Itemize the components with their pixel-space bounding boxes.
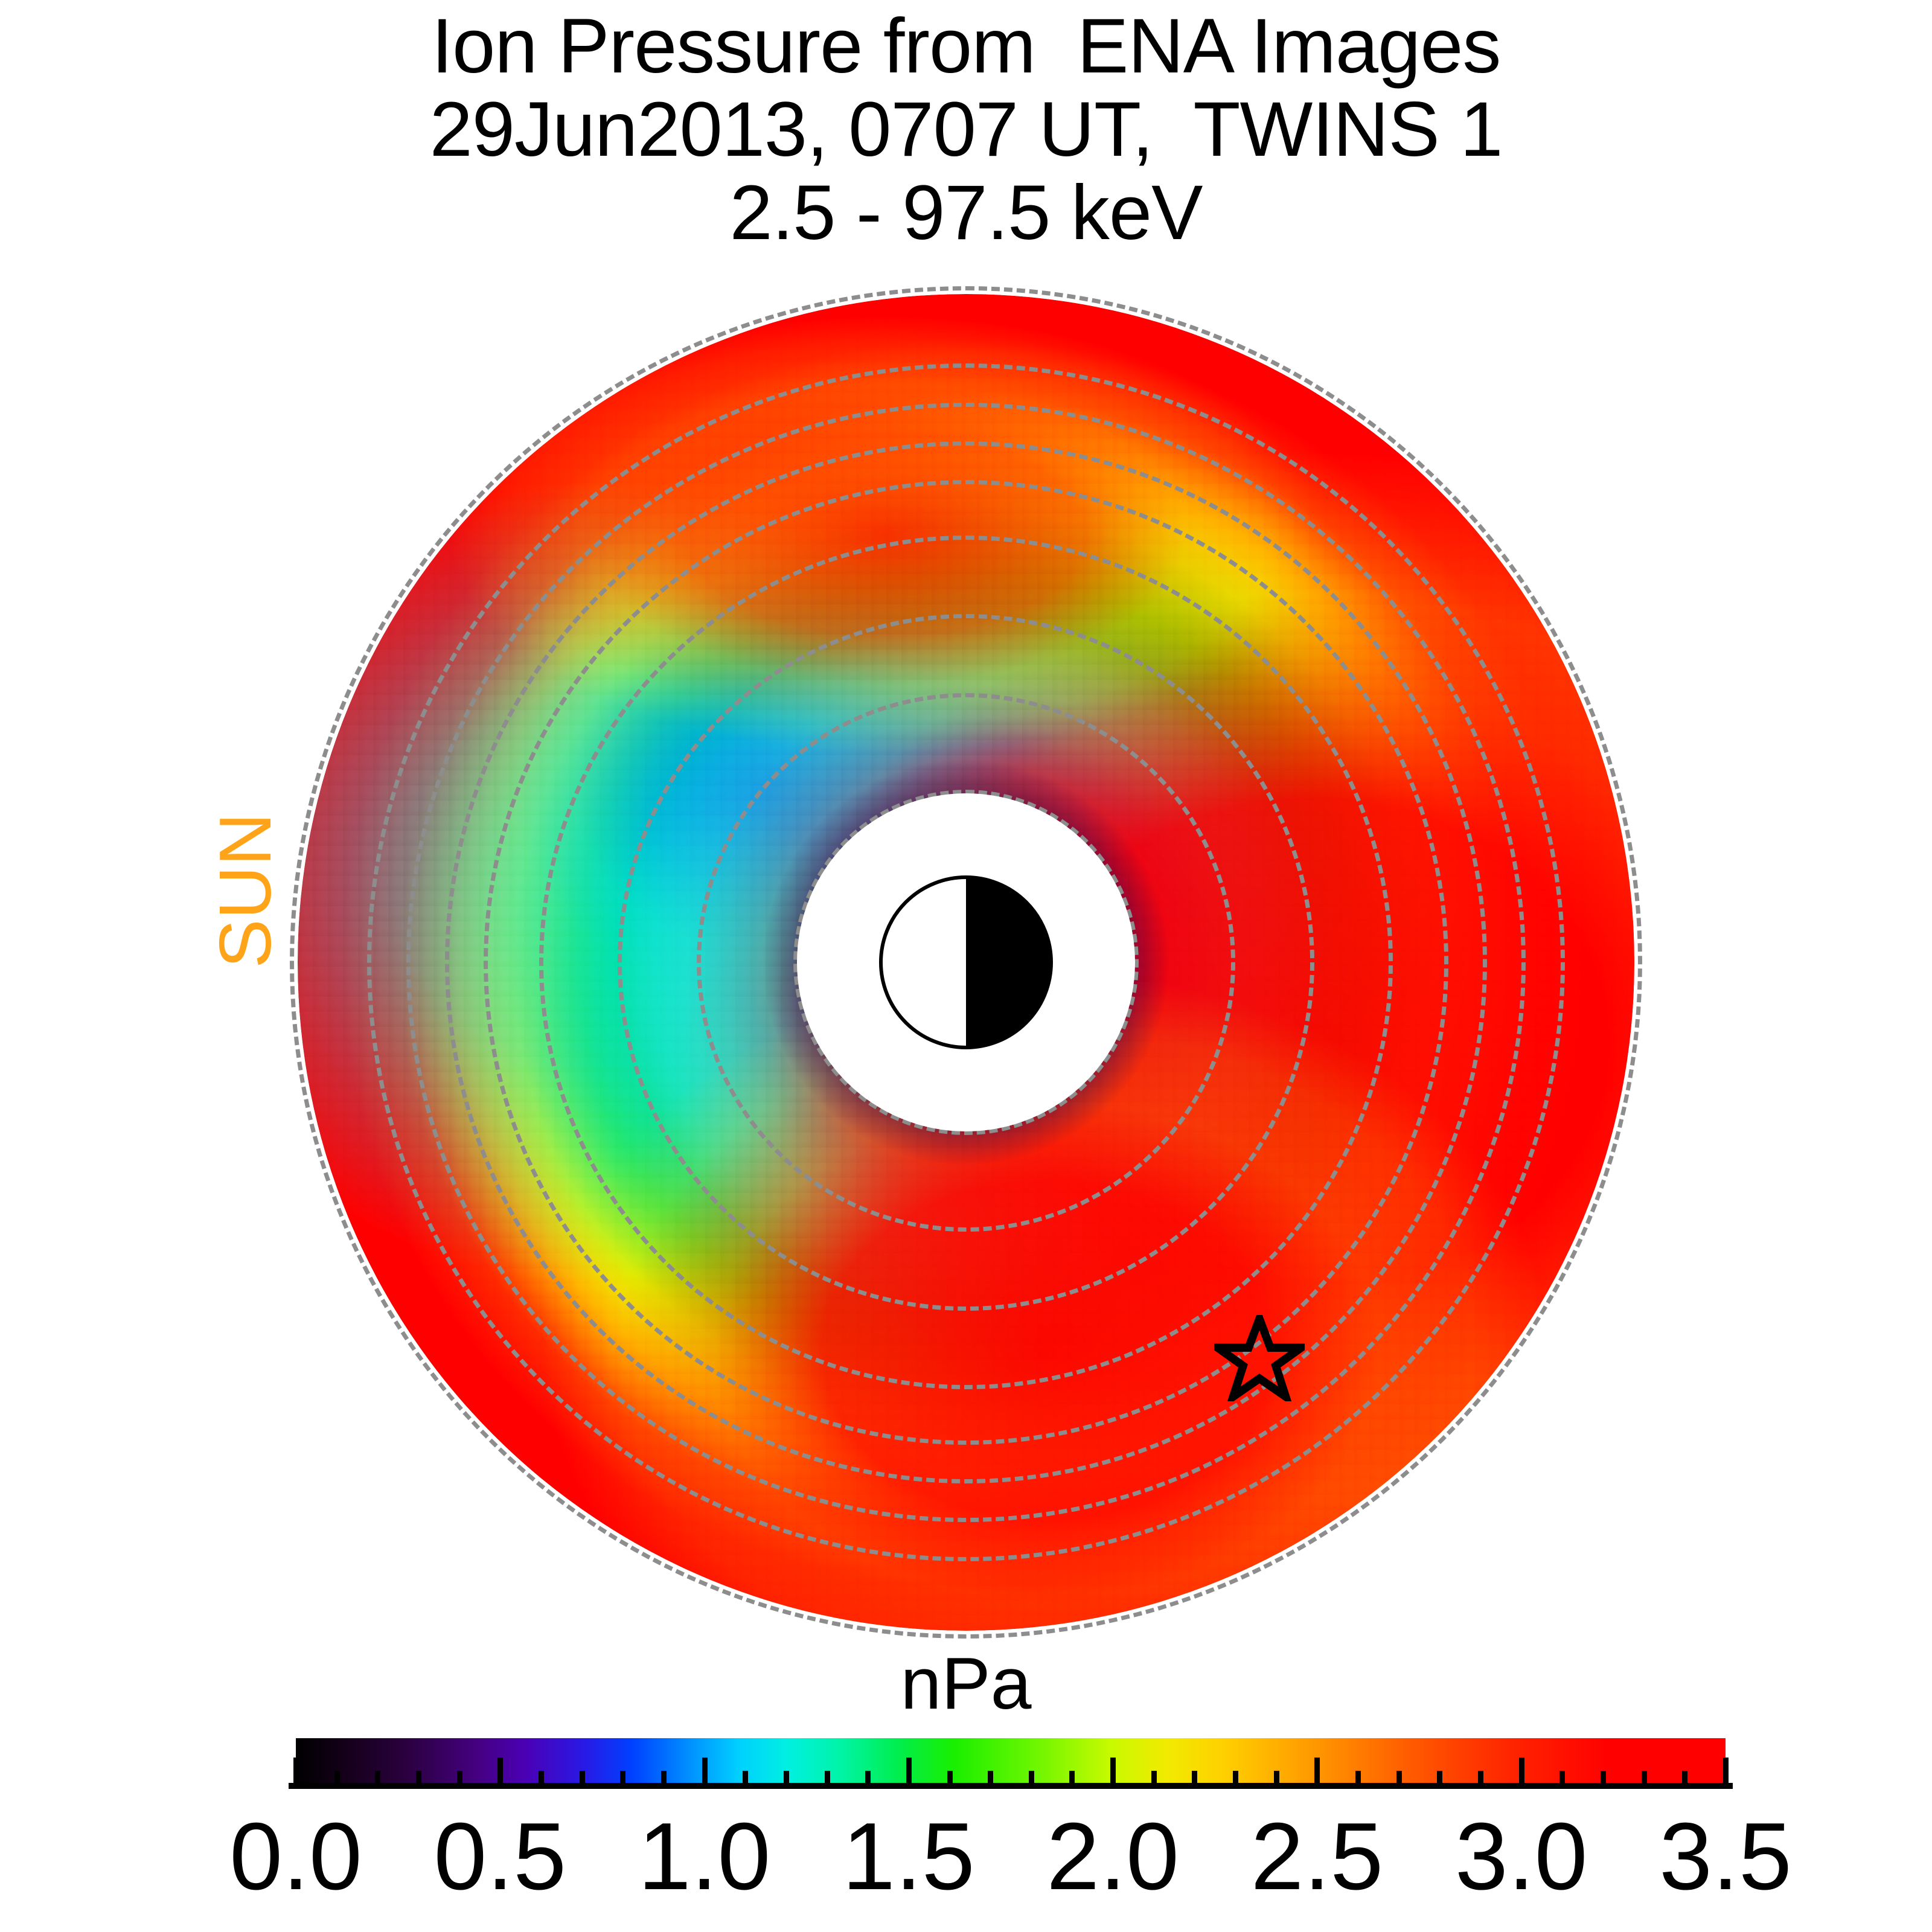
colorbar-major-tick bbox=[702, 1758, 708, 1789]
star-marker bbox=[1214, 1315, 1305, 1401]
colorbar-minor-tick bbox=[1029, 1771, 1034, 1789]
colorbar-minor-tick bbox=[743, 1771, 748, 1789]
colorbar-unit-label: nPa bbox=[0, 1641, 1932, 1726]
colorbar-tick-label: 3.5 bbox=[1659, 1802, 1792, 1911]
colorbar-minor-tick bbox=[1642, 1771, 1647, 1789]
colorbar-minor-tick bbox=[1069, 1771, 1075, 1789]
colorbar-minor-tick bbox=[1151, 1771, 1157, 1789]
colorbar-minor-tick bbox=[1355, 1771, 1361, 1789]
colorbar-minor-tick bbox=[1396, 1771, 1402, 1789]
colorbar-minor-tick bbox=[416, 1771, 421, 1789]
colorbar-minor-tick bbox=[1274, 1771, 1279, 1789]
colorbar-minor-tick bbox=[1601, 1771, 1606, 1789]
colorbar bbox=[296, 1738, 1726, 1785]
colorbar-minor-tick bbox=[539, 1771, 544, 1789]
title-line-2: 29Jun2013, 0707 UT, TWINS 1 bbox=[0, 88, 1932, 171]
colorbar-major-tick bbox=[1314, 1758, 1320, 1789]
colorbar-minor-tick bbox=[661, 1771, 667, 1789]
colorbar-major-tick bbox=[1519, 1758, 1524, 1789]
colorbar-major-tick bbox=[906, 1758, 912, 1789]
colorbar-axis-line bbox=[289, 1783, 1733, 1789]
colorbar-minor-tick bbox=[784, 1771, 789, 1789]
colorbar-minor-tick bbox=[1682, 1771, 1687, 1789]
title-line-1: Ion Pressure from ENA Images bbox=[0, 5, 1932, 88]
colorbar-major-tick bbox=[293, 1758, 299, 1789]
colorbar-tick-label: 1.0 bbox=[638, 1802, 771, 1911]
colorbar-minor-tick bbox=[947, 1771, 953, 1789]
colorbar-major-tick bbox=[1110, 1758, 1116, 1789]
colorbar-minor-tick bbox=[1233, 1771, 1238, 1789]
colorbar-minor-tick bbox=[457, 1771, 462, 1789]
colorbar-minor-tick bbox=[1437, 1771, 1442, 1789]
earth-day-night-icon bbox=[879, 875, 1053, 1049]
colorbar-minor-tick bbox=[865, 1771, 871, 1789]
polar-pressure-plot bbox=[290, 286, 1642, 1639]
title-line-3: 2.5 - 97.5 keV bbox=[0, 171, 1932, 255]
colorbar-minor-tick bbox=[620, 1771, 625, 1789]
page-title: Ion Pressure from ENA Images 29Jun2013, … bbox=[0, 5, 1932, 255]
colorbar-minor-tick bbox=[580, 1771, 585, 1789]
colorbar-tick-label: 2.0 bbox=[1046, 1802, 1179, 1911]
colorbar-tick-label: 0.5 bbox=[433, 1802, 566, 1911]
colorbar-tick-label: 3.0 bbox=[1455, 1802, 1588, 1911]
colorbar-minor-tick bbox=[334, 1771, 340, 1789]
colorbar-tick-label: 1.5 bbox=[842, 1802, 975, 1911]
colorbar-minor-tick bbox=[1478, 1771, 1483, 1789]
colorbar-tick-label: 0.0 bbox=[229, 1802, 362, 1911]
colorbar-major-tick bbox=[1723, 1758, 1729, 1789]
colorbar-minor-tick bbox=[988, 1771, 993, 1789]
colorbar-major-tick bbox=[497, 1758, 503, 1789]
colorbar-minor-tick bbox=[1559, 1771, 1565, 1789]
colorbar-tick-label: 2.5 bbox=[1251, 1802, 1384, 1911]
sun-direction-label: SUN bbox=[203, 788, 287, 993]
colorbar-minor-tick bbox=[1192, 1771, 1197, 1789]
colorbar-minor-tick bbox=[825, 1771, 830, 1789]
colorbar-minor-tick bbox=[375, 1771, 380, 1789]
